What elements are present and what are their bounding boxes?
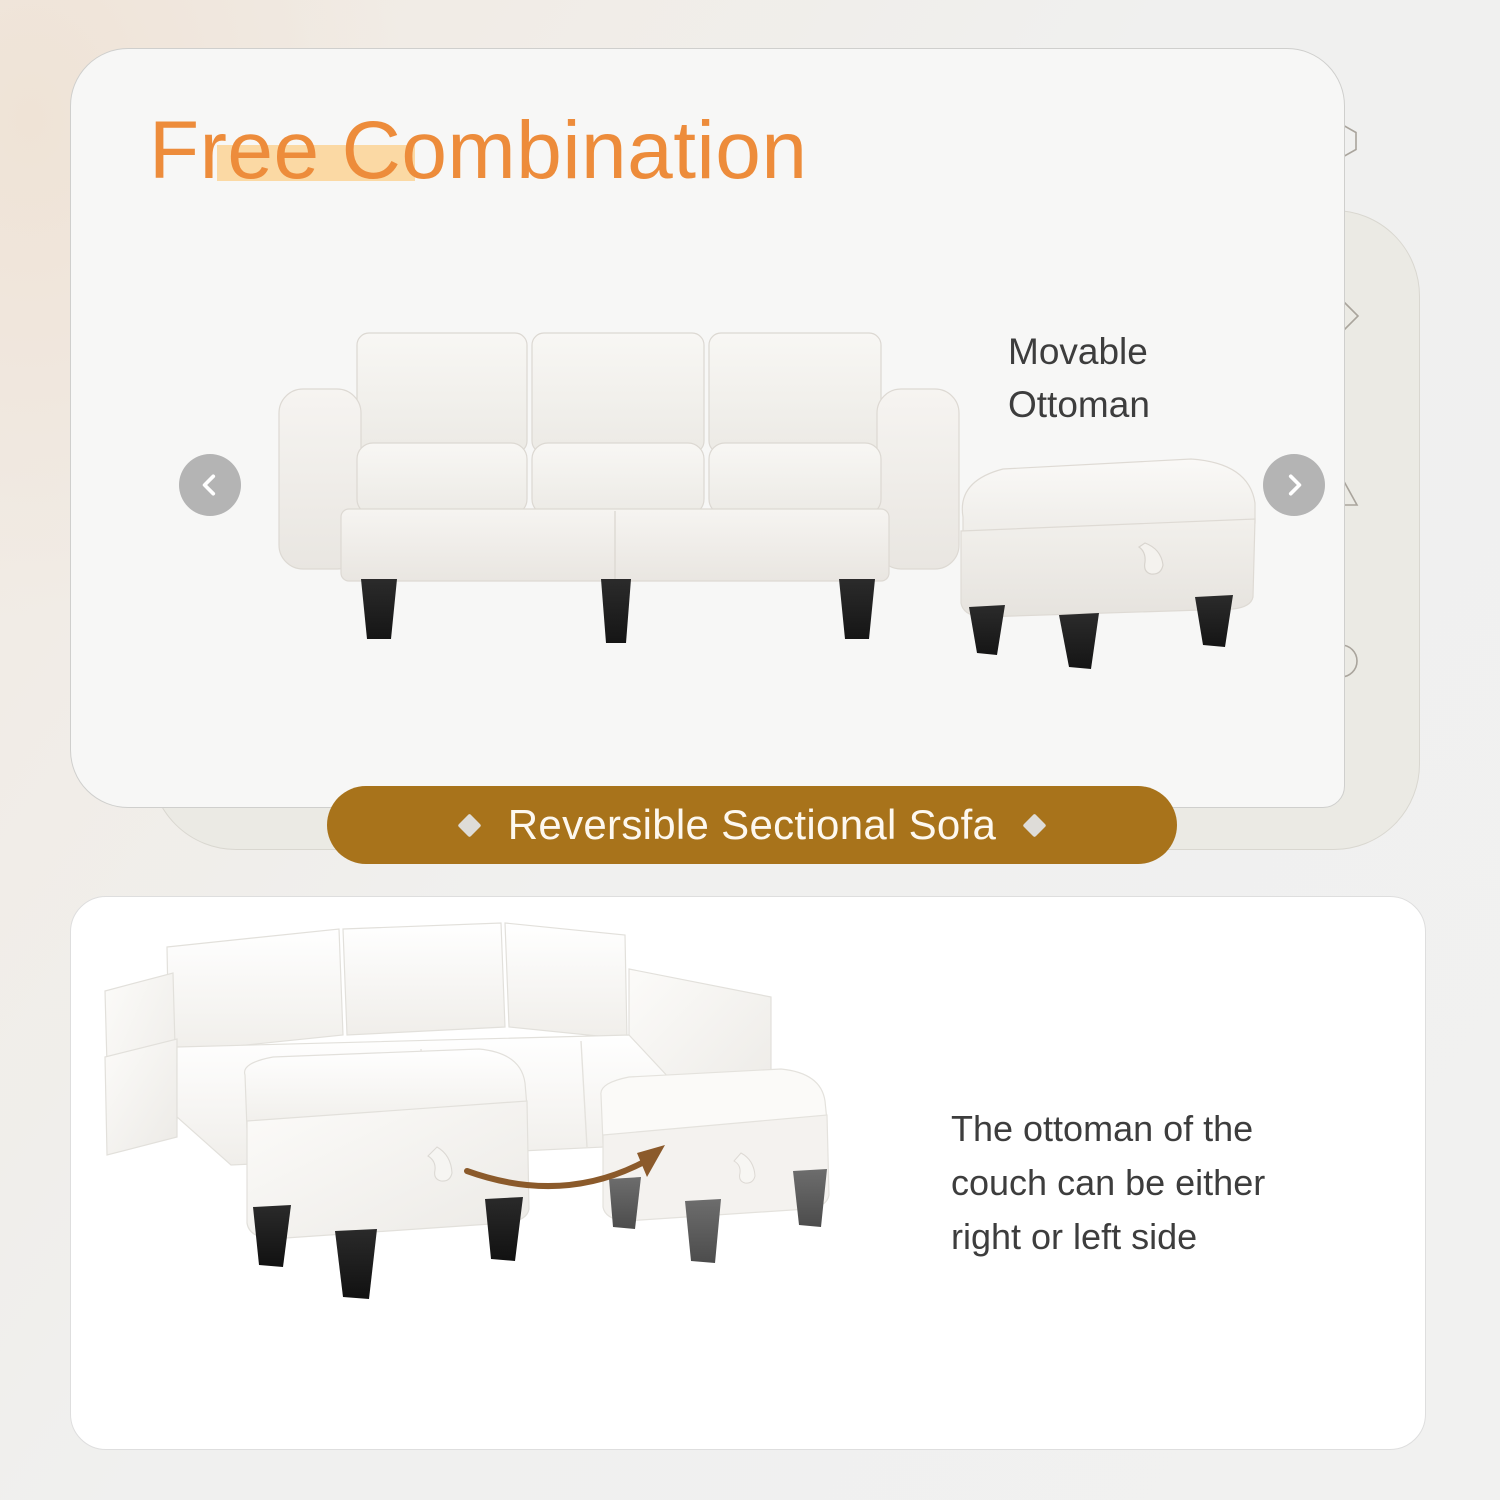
title-word-free: Free bbox=[149, 105, 320, 196]
callout-line-1: Movable bbox=[1008, 326, 1150, 379]
storage-ottoman-image bbox=[933, 447, 1283, 677]
page-title: FreeCombination bbox=[149, 107, 807, 196]
product-feature-graphic: FreeCombination bbox=[0, 0, 1500, 1500]
banner-title: Reversible Sectional Sofa bbox=[508, 801, 996, 849]
diamond-glyph-right bbox=[1023, 813, 1047, 837]
note-line-1: The ottoman of the bbox=[951, 1102, 1371, 1156]
product-title-banner: Reversible Sectional Sofa bbox=[327, 786, 1177, 864]
carousel-next-button[interactable] bbox=[1263, 454, 1325, 516]
movable-ottoman-callout: Movable Ottoman bbox=[1008, 326, 1150, 431]
hero-card: FreeCombination bbox=[70, 48, 1345, 808]
chevron-right-icon bbox=[1281, 472, 1307, 498]
carousel-prev-button[interactable] bbox=[179, 454, 241, 516]
note-line-3: right or left side bbox=[951, 1210, 1371, 1264]
reversible-sectional-image bbox=[81, 907, 891, 1337]
three-seat-sofa-image bbox=[249, 311, 979, 651]
diamond-glyph-left bbox=[457, 813, 481, 837]
note-line-2: couch can be either bbox=[951, 1156, 1371, 1210]
callout-line-2: Ottoman bbox=[1008, 379, 1150, 432]
ottoman-side-note: The ottoman of the couch can be either r… bbox=[951, 1102, 1371, 1264]
title-word-combination: Combination bbox=[342, 105, 808, 196]
bottom-feature-card: The ottoman of the couch can be either r… bbox=[70, 896, 1426, 1450]
chevron-left-icon bbox=[197, 472, 223, 498]
